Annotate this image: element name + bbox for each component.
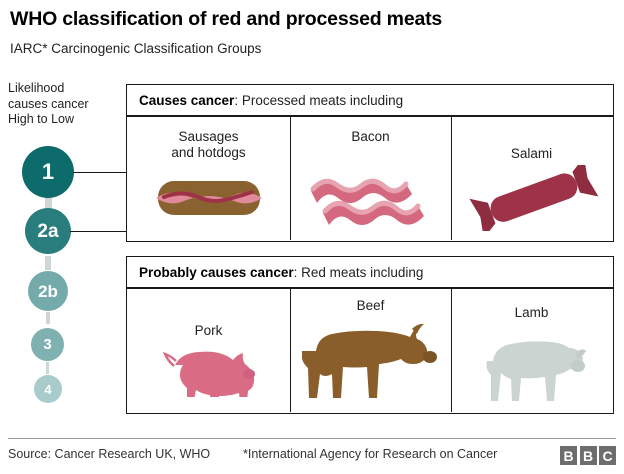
source-text: Source: Cancer Research UK, WHO: [8, 447, 210, 461]
scale-group-4[interactable]: 4: [34, 375, 62, 403]
scale-group-2a[interactable]: 2a: [25, 208, 71, 254]
bbc-logo-letter-2: B: [580, 446, 597, 465]
panel-2-heading-rest: : Red meats including: [294, 265, 424, 280]
hotdog-icon: [154, 175, 264, 221]
item-label: Salami: [451, 146, 612, 162]
bacon-icon: [307, 161, 435, 227]
scale-connector-4: [46, 362, 49, 374]
scale-group-1[interactable]: 1: [22, 146, 74, 198]
salami-icon: [467, 165, 600, 231]
item-label: Lamb: [451, 305, 612, 321]
item-sausages-and-hotdogs[interactable]: Sausages and hotdogs: [127, 117, 290, 240]
item-label-line-1: Beef: [290, 298, 451, 314]
item-label: Pork: [127, 323, 290, 339]
scale-group-3[interactable]: 3: [31, 328, 64, 361]
sheep-icon: [479, 335, 587, 401]
leader-line-group1: [73, 172, 126, 173]
pig-icon: [161, 347, 257, 397]
item-label: Sausages and hotdogs: [127, 129, 290, 161]
item-label-line-1: Pork: [127, 323, 290, 339]
panel-2-heading: Probably causes cancer: Red meats includ…: [126, 256, 614, 288]
leader-line-group2a: [70, 231, 126, 232]
item-label-line-1: Sausages: [127, 129, 290, 145]
panel-1-heading-bold: Causes cancer: [139, 93, 234, 108]
item-bacon[interactable]: Bacon: [290, 117, 451, 240]
item-label-line-1: Salami: [451, 146, 612, 162]
item-label: Beef: [290, 298, 451, 314]
scale-connector-3: [46, 312, 50, 324]
scale-connector-2: [45, 256, 51, 270]
bbc-logo: B B C: [560, 446, 616, 465]
scale-group-2a-label: 2a: [37, 222, 58, 241]
footer-divider: [8, 438, 616, 439]
scale-group-4-label: 4: [44, 383, 51, 396]
panel-1-body: Sausages and hotdogs Bacon: [126, 116, 614, 242]
scale-group-3-label: 3: [43, 337, 51, 352]
item-label-line-1: Lamb: [451, 305, 612, 321]
bbc-logo-letter-3: C: [599, 446, 616, 465]
scale-group-2b[interactable]: 2b: [28, 271, 68, 311]
item-beef[interactable]: Beef: [290, 289, 451, 412]
scale-group-2b-label: 2b: [38, 283, 58, 300]
footnote-text: *International Agency for Research on Ca…: [243, 447, 497, 461]
item-label-line-1: Bacon: [290, 129, 451, 145]
panel-1-heading-rest: : Processed meats including: [234, 93, 403, 108]
bbc-logo-letter-1: B: [560, 446, 577, 465]
cow-icon: [302, 321, 438, 407]
panel-2-body: Pork Beef Lamb: [126, 288, 614, 414]
item-pork[interactable]: Pork: [127, 289, 290, 412]
infographic-root: WHO classification of red and processed …: [0, 0, 624, 474]
item-lamb[interactable]: Lamb: [451, 289, 612, 412]
item-salami[interactable]: Salami: [451, 117, 612, 240]
item-label-line-2: and hotdogs: [127, 145, 290, 161]
scale-group-1-label: 1: [42, 161, 54, 183]
item-label: Bacon: [290, 129, 451, 145]
panel-2-heading-bold: Probably causes cancer: [139, 265, 294, 280]
panel-1-heading: Causes cancer: Processed meats including: [126, 84, 614, 116]
classification-scale: 1 2a 2b 3 4: [0, 0, 120, 474]
